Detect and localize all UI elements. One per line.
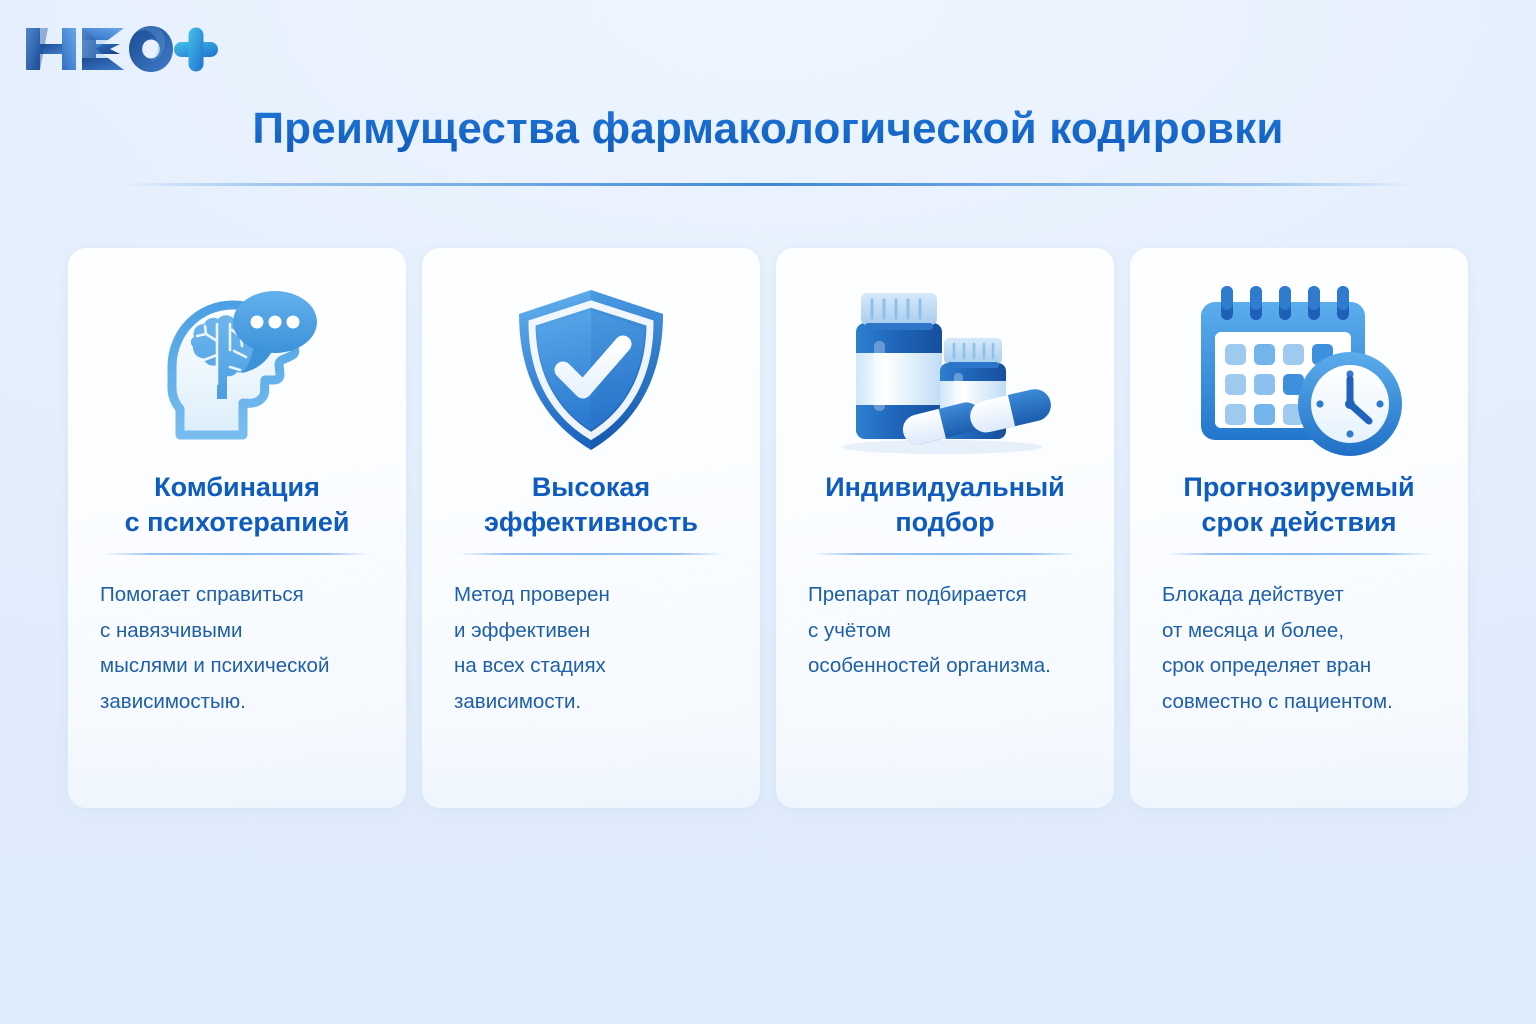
page-title: Преимущества фармакологической кодировки bbox=[0, 104, 1536, 154]
shield-check-icon bbox=[440, 272, 742, 468]
card-title: Прогнозируемый срок действия bbox=[1183, 470, 1414, 539]
card-divider bbox=[104, 553, 370, 555]
card-divider bbox=[812, 553, 1078, 555]
card-title: Индивидуальный подбор bbox=[825, 470, 1065, 539]
calendar-clock-icon bbox=[1148, 272, 1450, 468]
infographic-page: Преимущества фармакологической кодировки bbox=[0, 0, 1536, 1024]
card-title: Высокая эффективность bbox=[484, 470, 698, 539]
benefit-card-predictable-duration[interactable]: Прогнозируемый срок действия Блокада дей… bbox=[1130, 248, 1468, 808]
card-body: Метод проверен и эффективен на всех стад… bbox=[440, 577, 742, 720]
head-brain-speech-bubble-icon bbox=[86, 272, 388, 468]
benefit-card-effectiveness[interactable]: Высокая эффективность Метод проверен и э… bbox=[422, 248, 760, 808]
title-divider bbox=[118, 183, 1418, 186]
benefit-card-combination[interactable]: Комбинация с психотерапией Помогает спра… bbox=[68, 248, 406, 808]
card-body: Помогает справиться с навязчивыми мыслям… bbox=[86, 577, 388, 720]
card-body: Блокада действует от месяца и более, сро… bbox=[1148, 577, 1450, 720]
neo-plus-logo bbox=[18, 18, 218, 80]
card-divider bbox=[1166, 553, 1432, 555]
benefits-card-row: Комбинация с психотерапией Помогает спра… bbox=[68, 248, 1468, 808]
pill-bottles-capsules-icon bbox=[794, 272, 1096, 468]
card-body: Препарат подбирается с учётом особенност… bbox=[794, 577, 1096, 684]
card-title: Комбинация с психотерапией bbox=[125, 470, 350, 539]
benefit-card-individual-selection[interactable]: Индивидуальный подбор Препарат подбирает… bbox=[776, 248, 1114, 808]
card-divider bbox=[458, 553, 724, 555]
